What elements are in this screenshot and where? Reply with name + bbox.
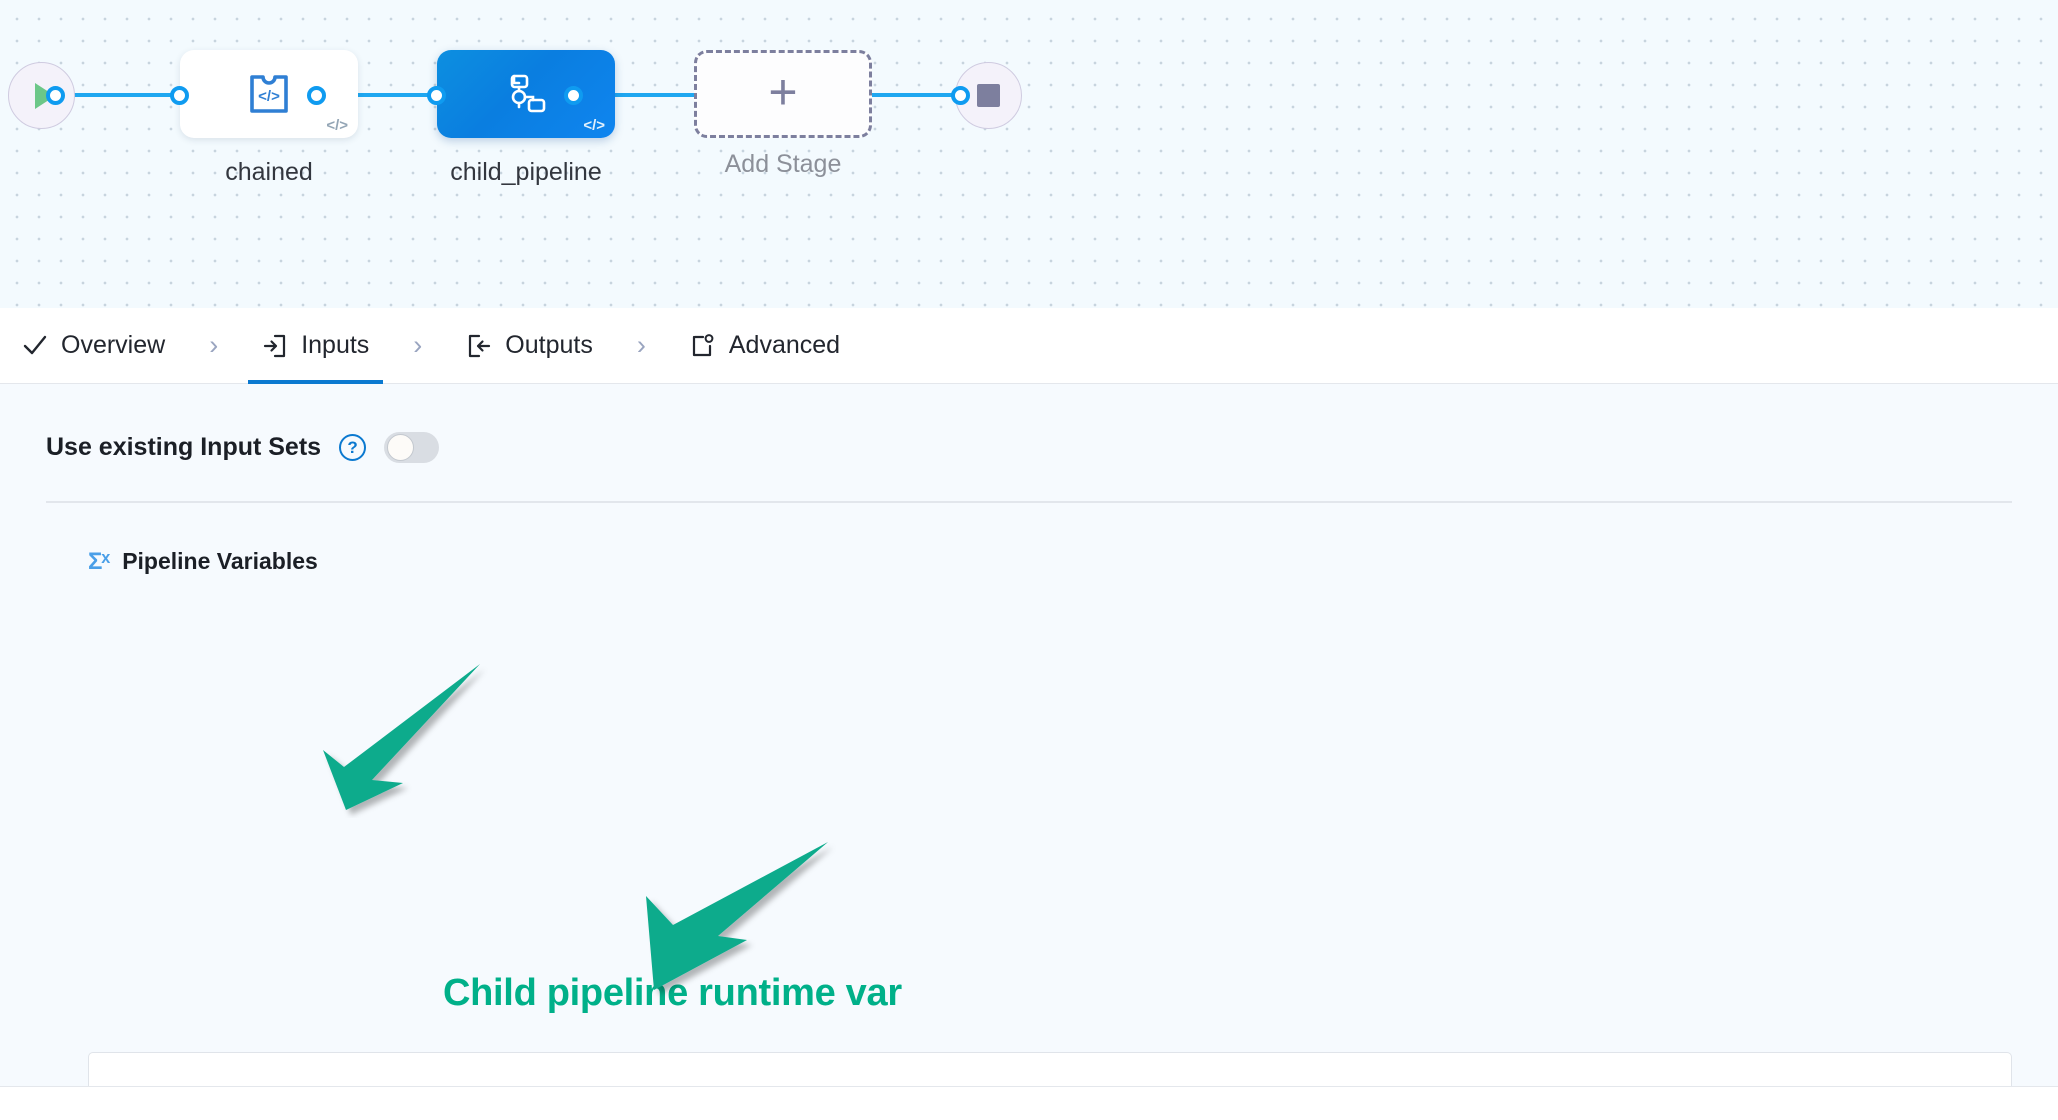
- pipeline-chain-icon: [504, 72, 548, 116]
- stage-config-tabbar: Overview › Inputs › Outputs › Ad: [0, 308, 2058, 384]
- connector-dot-chained-in[interactable]: [170, 86, 189, 105]
- tab-overview-label: Overview: [61, 331, 165, 360]
- add-stage-node[interactable]: +: [694, 50, 872, 138]
- connector-dot-chained-out[interactable]: [307, 86, 326, 105]
- edge-start-to-chained: [56, 93, 186, 97]
- use-existing-input-sets-row: Use existing Input Sets ?: [0, 384, 2058, 463]
- connector-dot-child-in[interactable]: [427, 86, 446, 105]
- plus-icon: +: [768, 67, 797, 117]
- connector-dot-start[interactable]: [46, 86, 65, 105]
- annotation-child-runtime-var: Child pipeline runtime var: [443, 972, 902, 1015]
- tab-outputs[interactable]: Outputs: [452, 308, 607, 384]
- help-icon[interactable]: ?: [339, 434, 366, 461]
- tab-separator-1: ›: [179, 330, 248, 361]
- stage-label-child-pipeline: child_pipeline: [437, 158, 615, 187]
- page-bottom-bar: [0, 1086, 2058, 1120]
- inputs-panel: Use existing Input Sets ? Σˣ Pipeline Va…: [0, 384, 2058, 1120]
- tab-advanced-label: Advanced: [729, 331, 840, 360]
- use-existing-input-sets-toggle[interactable]: [384, 432, 439, 463]
- tab-separator-2: ›: [383, 330, 452, 361]
- tab-overview[interactable]: Overview: [8, 308, 179, 384]
- pipeline-canvas[interactable]: </> </> chained </> child_pipeline + Add…: [0, 0, 2058, 308]
- stage-node-child-pipeline[interactable]: </>: [437, 50, 615, 138]
- tab-outputs-label: Outputs: [505, 331, 593, 360]
- tab-inputs[interactable]: Inputs: [248, 308, 383, 384]
- outputs-arrow-icon: [466, 333, 492, 359]
- tab-advanced[interactable]: Advanced: [676, 308, 854, 384]
- pipeline-variables-header: Σˣ Pipeline Variables: [0, 503, 2058, 576]
- stage-code-badge-selected: </>: [583, 118, 605, 133]
- custom-stage-code-icon: </>: [248, 71, 290, 117]
- connector-dot-end[interactable]: [951, 86, 970, 105]
- tab-inputs-label: Inputs: [301, 331, 369, 360]
- add-stage-label: Add Stage: [694, 150, 872, 179]
- check-icon: [22, 333, 48, 359]
- stage-node-chained[interactable]: </> </>: [180, 50, 358, 138]
- stage-label-chained: chained: [180, 158, 358, 187]
- use-existing-input-sets-label: Use existing Input Sets: [46, 433, 321, 462]
- pipeline-variables-title: Pipeline Variables: [122, 548, 318, 575]
- toggle-knob: [387, 434, 414, 461]
- sigma-x-icon: Σˣ: [88, 548, 109, 576]
- svg-text:</>: </>: [258, 88, 280, 105]
- connector-dot-child-out[interactable]: [564, 86, 583, 105]
- stop-icon: [977, 84, 1000, 107]
- inputs-arrow-icon: [262, 333, 288, 359]
- advanced-gear-doc-icon: [690, 333, 716, 359]
- stage-code-badge: </>: [326, 118, 348, 133]
- tab-separator-3: ›: [607, 330, 676, 361]
